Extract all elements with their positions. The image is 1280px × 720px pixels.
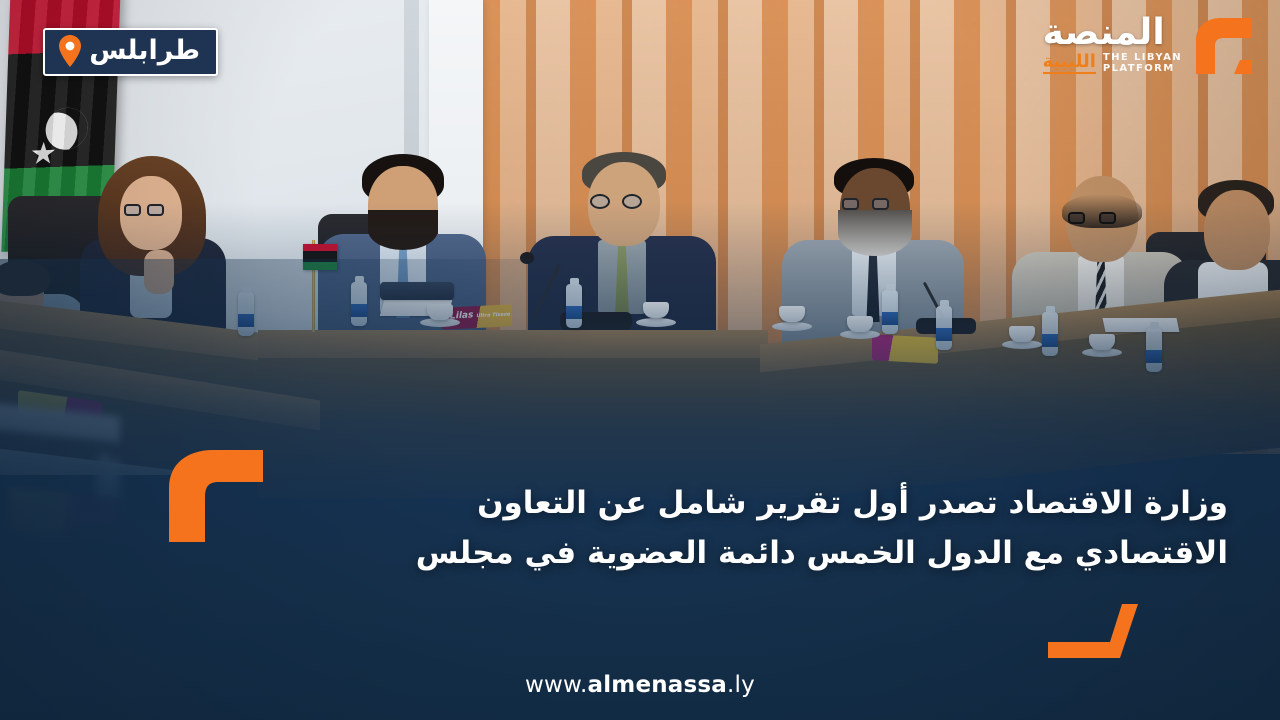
footer-website-url[interactable]: www.almenassa.ly [0,672,1280,698]
location-badge[interactable]: طرابلس [43,28,218,76]
logo-hook-icon [1190,14,1264,76]
site-logo[interactable]: المنصة THE LIBYAN PLATFORM الليبية [1043,14,1264,76]
url-tld: .ly [727,672,755,698]
url-brand: almenassa [587,672,727,698]
logo-english-name: THE LIBYAN PLATFORM [1103,53,1182,74]
news-card: Lilas Ultra Tissue ط [0,0,1280,720]
headline-line-2: الاقتصادي مع الدول الخمس دائمة العضوية ف… [300,528,1228,578]
location-badge-label: طرابلس [89,35,200,66]
orange-hook-decoration [165,448,265,544]
location-pin-icon [57,35,83,67]
logo-subtitle-row: THE LIBYAN PLATFORM الليبية [1043,53,1182,74]
orange-lam-decoration [1048,604,1142,660]
logo-english-line2: PLATFORM [1103,63,1175,74]
headline: وزارة الاقتصاد تصدر أول تقرير شامل عن ال… [300,478,1228,578]
logo-english-line1: THE LIBYAN [1103,52,1182,63]
headline-line-1: وزارة الاقتصاد تصدر أول تقرير شامل عن ال… [300,478,1228,528]
logo-arabic-name: المنصة [1043,16,1165,50]
logo-text: المنصة THE LIBYAN PLATFORM الليبية [1043,16,1182,74]
logo-arabic-qualifier: الليبية [1043,53,1096,74]
url-prefix: www. [525,672,587,698]
